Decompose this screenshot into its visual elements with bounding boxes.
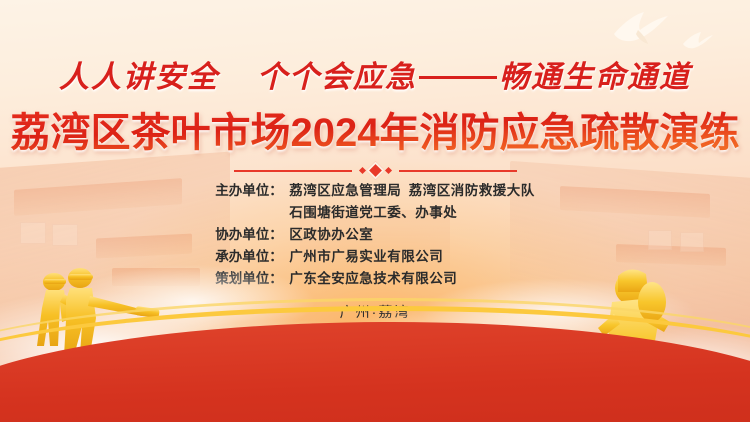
diamond-ornament-icon <box>360 164 391 177</box>
slogan-part-3: 畅通生命通道 <box>499 61 691 94</box>
organizer-row-host: 主办单位：荔湾区应急管理局 荔湾区消防救援大队 <box>215 180 535 202</box>
gold-curve-stroke-secondary <box>0 298 750 416</box>
ornament-dot <box>384 167 391 174</box>
organizer-label: 承办单位： <box>215 246 289 268</box>
organizer-row-host-line2: 石围塘街道党工委、办事处 <box>215 202 535 224</box>
divider-rule-right <box>399 170 517 172</box>
slogan-line: 人人讲安全 个个会应急畅通生命通道 <box>0 52 750 96</box>
organizer-value: 荔湾区应急管理局 <box>289 183 401 198</box>
organizer-row-coorganizer: 协办单位：区政协办公室 <box>215 224 535 246</box>
organizer-label: 协办单位： <box>215 224 289 246</box>
organizer-value: 区政协办公室 <box>289 227 373 242</box>
slogan-part-2: 个个会应急 <box>257 61 417 94</box>
organizer-row-planner: 策划单位：广东全安应急技术有限公司 <box>215 268 535 290</box>
page-title: 荔湾区茶叶市场2024年消防应急疏散演练 <box>0 100 750 158</box>
dove-icon-small <box>680 30 714 52</box>
divider <box>0 164 750 177</box>
ornament-diamond <box>366 161 384 179</box>
slogan-dash <box>419 76 497 79</box>
organizer-value: 广东全安应急技术有限公司 <box>289 271 457 286</box>
organizer-value-2: 荔湾区消防救援大队 <box>409 183 535 198</box>
organizer-label: 策划单位： <box>215 268 289 290</box>
poster-canvas: 人人讲安全 个个会应急畅通生命通道 荔湾区茶叶市场2024年消防应急疏散演练 主… <box>0 0 750 422</box>
organizers-inner: 主办单位：荔湾区应急管理局 荔湾区消防救援大队 石围塘街道党工委、办事处 协办单… <box>215 180 535 290</box>
organizer-row-undertaker: 承办单位：广州市广易实业有限公司 <box>215 246 535 268</box>
ornament-dot <box>358 167 365 174</box>
organizer-value: 广州市广易实业有限公司 <box>289 249 443 264</box>
organizer-value-line2: 石围塘街道党工委、办事处 <box>289 205 457 220</box>
divider-rule-left <box>234 170 352 172</box>
dove-icon <box>608 8 672 48</box>
organizer-label: 主办单位： <box>215 180 289 202</box>
slogan-part-1: 人人讲安全 <box>59 61 219 94</box>
